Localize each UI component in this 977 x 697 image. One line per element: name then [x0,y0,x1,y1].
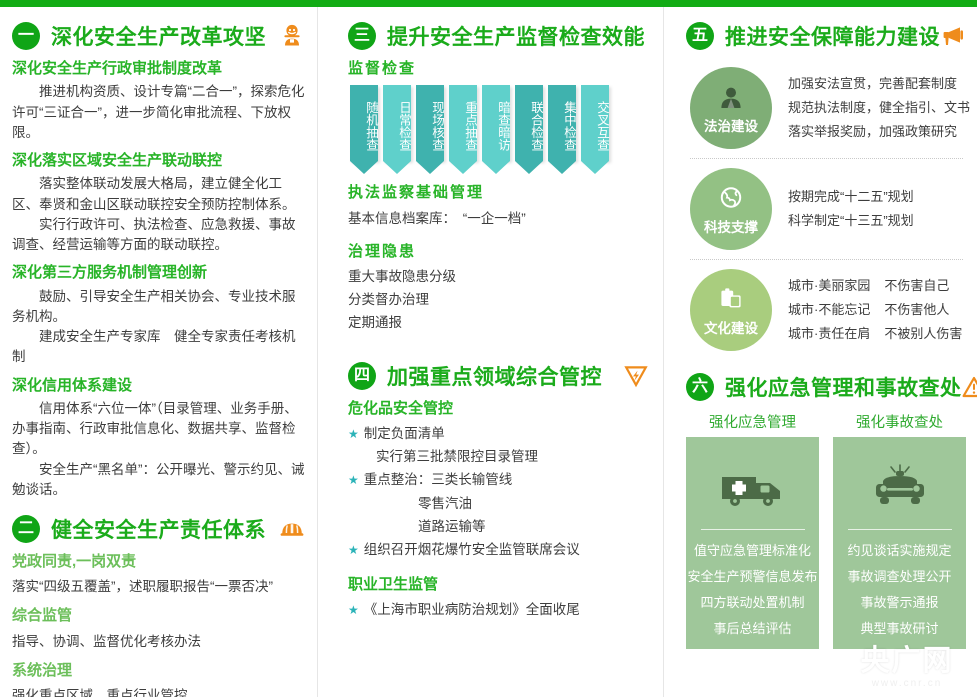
capability-line: 规范执法制度，健全指引、文书 [788,96,970,120]
body-line: 分类督办治理 [348,288,647,311]
capability-circle: 科技支撑 [690,168,772,250]
capability-row-legal: 法治建设 加强安法宣贯，完善配套制度 规范执法制度，健全指引、文书 落实举报奖励… [686,58,967,158]
body-paragraph: 落实整体联动发展大格局，建立健全化工区、奉贤和金山区联动联控安全预防控制体系。 [12,174,305,215]
emergency-card: 约见谈话实施规定 事故调查处理公开 事故警示通报 典型事故研讨 [833,437,966,649]
star-item-label: 制定负面清单 [364,422,445,445]
card-line: 约见谈话实施规定 [847,538,951,564]
star-item: ★ 《上海市职业病防治规划》全面收尾 [348,598,647,621]
section-title: 健全安全生产责任体系 [51,514,266,544]
sub-heading: 深化第三方服务机制管理创新 [12,263,305,283]
hazard-block: 治理隐患 重大事故隐患分级 分类督办治理 定期通报 [348,242,647,335]
star-item: ★ 组织召开烟花爆竹安全监管联席会议 [348,538,647,561]
capability-line: 按期完成“十二五”规划 [788,185,914,209]
clipboard-icon [716,285,746,320]
star-item: ★ 重点整治：三类长输管线 [348,468,647,491]
star-item: ★ 制定负面清单 [348,422,647,445]
section-number-badge: 一 [12,22,40,50]
star-item-label: 重点整治：三类长输管线 [364,468,513,491]
capability-line: 城市·美丽家园 [788,274,870,298]
body-paragraph: 推进机构资质、设计专篇“二合一”，探索危化许可“三证合一”，进一步简化审批流程、… [12,82,305,143]
ribbon-banner: 随机抽查 [350,85,378,161]
capability-circle: 文化建设 [690,269,772,351]
ambulance-icon [718,451,788,525]
section-title: 强化应急管理和事故查处 [725,372,962,402]
ribbon-label: 交叉互查 [595,101,609,151]
section-heading-two: 二 健全安全生产责任体系 [12,514,305,544]
card-line: 典型事故研讨 [860,616,938,642]
sub-heading: 深化安全生产行政审批制度改革 [12,59,305,79]
sub-heading: 系统治理 [12,661,305,681]
sub-heading: 职业卫生监管 [348,575,647,595]
section-number-badge: 三 [348,22,376,50]
star-item-label: 组织召开烟花爆竹安全监管联席会议 [364,538,580,561]
star-bullet-icon: ★ [348,470,359,491]
star-bullet-icon: ★ [348,600,359,621]
sub-heading: 党政同责,一岗双责 [12,552,305,572]
occupational-health-block: 职业卫生监管 ★ 《上海市职业病防治规划》全面收尾 [348,575,647,621]
card-line: 事故警示通报 [860,590,938,616]
section-heading-three: 三 提升安全生产监督检查效能 [348,21,647,51]
sub-heading: 治理隐患 [348,242,647,262]
sub-heading-supervision: 监督检查 [348,59,647,79]
body-line: 落实“四级五覆盖”，述职履职报告“一票否决” [12,575,305,598]
body-paragraph: 鼓励、引导安全生产相关协会、专业技术服务机构。 [12,287,305,328]
section-title: 提升安全生产监督检查效能 [387,21,645,51]
capability-line: 科学制定“十三五”规划 [788,209,914,233]
sub-heading: 综合监管 [12,606,305,626]
body-line: 基本信息档案库： “一企一档” [348,207,647,230]
capability-circle: 法治建设 [690,67,772,149]
ribbon-banner: 集中检查 [548,85,576,161]
body-line: 定期通报 [348,311,647,334]
capability-rows: 法治建设 加强安法宣贯，完善配套制度 规范执法制度，健全指引、文书 落实举报奖励… [686,58,967,360]
ribbon-label: 随机抽查 [364,101,378,151]
section-title: 推进安全保障能力建设 [725,21,940,51]
ribbon-label: 暗查暗访 [496,101,510,151]
ribbon-label: 集中检查 [562,101,576,151]
capability-lines-left: 城市·美丽家园 城市·不能忘记 城市·责任在肩 [788,274,870,346]
section-number-badge: 四 [348,362,376,390]
capability-label: 科技支撑 [704,221,758,235]
enforcement-block: 执法监察基础管理 基本信息档案库： “一企一档” [348,183,647,229]
section-title: 加强重点领域综合管控 [387,361,602,391]
card-rule [701,529,805,530]
body-paragraph: 信用体系“六位一体”（目录管理、业务手册、办事指南、行政审批信息化、数据共享、监… [12,399,305,460]
capability-line: 城市·不能忘记 [788,298,870,322]
capability-lines: 城市·美丽家园 城市·不能忘记 城市·责任在肩 不伤害自己 不伤害他人 不被别人… [788,274,962,346]
capability-line: 不伤害他人 [884,298,962,322]
sub-heading: 危化品安全管控 [348,399,647,419]
card-rule [848,529,952,530]
hazchem-block: 危化品安全管控 ★ 制定负面清单 实行第三批禁限控目录管理 ★ 重点整治：三类长… [348,399,647,562]
top-accent-bar [0,0,977,7]
body-paragraph: 建成安全生产专家库 健全专家责任考核机制 [12,327,305,368]
emergency-card: 值守应急管理标准化 安全生产预警信息发布 四方联动处置机制 事后总结评估 [686,437,819,649]
emergency-card-title: 强化应急管理 [686,411,819,432]
body-line: 道路运输等 [348,515,647,538]
capability-line: 不被别人伤害 [884,322,962,346]
column-three: 五 推进安全保障能力建设 [663,7,977,697]
star-bullet-icon: ★ [348,540,359,561]
capability-line: 不伤害自己 [884,274,962,298]
card-line: 值守应急管理标准化 [694,538,811,564]
worker-helmet-icon [279,23,305,49]
inspection-ribbons: 随机抽查 日常检查 现场核查 重点抽查 暗查暗访 联合检查 集中检查 交叉互查 [350,85,647,161]
infographic-page: 一 深化安全生产改革攻坚 深化安全生产行政审批制度改革 推进 [0,0,977,697]
section-heading-one: 一 深化安全生产改革攻坚 [12,21,305,51]
globe-icon [716,184,746,219]
section-title: 深化安全生产改革攻坚 [51,21,266,51]
capability-lines: 加强安法宣贯，完善配套制度 规范执法制度，健全指引、文书 落实举报奖励，加强政策… [788,72,970,144]
police-car-icon [865,451,935,525]
sub-heading: 深化信用体系建设 [12,376,305,396]
body-paragraph: 实行行政许可、执法检查、应急救援、事故调查、经营运输等方面的联动联控。 [12,215,305,256]
body-line: 强化重点区域，重点行业管控 [12,684,305,697]
electrical-hazard-icon [624,364,648,388]
ribbon-label: 日常检查 [397,101,411,151]
capability-label: 法治建设 [704,120,758,134]
capability-lines: 按期完成“十二五”规划 科学制定“十三五”规划 [788,185,914,233]
ribbon-banner: 现场核查 [416,85,444,161]
ribbon-banner: 交叉互查 [581,85,609,161]
section-heading-six: 六 强化应急管理和事故查处 [686,372,967,402]
sub-heading: 执法监察基础管理 [348,183,647,203]
capability-lines-right: 不伤害自己 不伤害他人 不被别人伤害 [884,274,962,346]
ribbon-banner: 重点抽查 [449,85,477,161]
ribbon-banner: 联合检查 [515,85,543,161]
ribbon-banner: 暗查暗访 [482,85,510,161]
card-line: 四方联动处置机制 [700,590,804,616]
card-line: 事故调查处理公开 [847,564,951,590]
body-line: 重大事故隐患分级 [348,265,647,288]
emergency-card-titles: 强化应急管理 强化事故查处 [686,411,967,432]
section-number-badge: 六 [686,373,714,401]
ribbon-label: 联合检查 [529,101,543,151]
hard-hat-icon [279,516,305,542]
capability-line: 加强安法宣贯，完善配套制度 [788,72,970,96]
body-line: 实行第三批禁限控目录管理 [348,445,647,468]
warning-triangle-icon [962,376,977,398]
section-one-body: 深化安全生产行政审批制度改革 推进机构资质、设计专篇“二合一”，探索危化许可“三… [12,59,305,500]
emergency-card-title: 强化事故查处 [833,411,966,432]
capability-line: 城市·责任在肩 [788,322,870,346]
ribbon-label: 重点抽查 [463,101,477,151]
star-item-label: 《上海市职业病防治规划》全面收尾 [364,598,580,621]
section-heading-five: 五 推进安全保障能力建设 [686,21,967,51]
megaphone-icon [940,24,967,48]
ribbon-banner: 日常检查 [383,85,411,161]
card-line: 安全生产预警信息发布 [687,564,817,590]
column-two: 三 提升安全生产监督检查效能 监督检查 随机抽查 日常检查 现场核查 重点抽查 … [317,7,663,697]
ribbon-label: 现场核查 [430,101,444,151]
section-heading-four: 四 加强重点领域综合管控 [348,361,647,391]
capability-label: 文化建设 [704,322,758,336]
person-suit-icon [716,83,746,118]
section-number-badge: 五 [686,22,714,50]
card-line: 事后总结评估 [713,616,791,642]
body-line: 指导、协调、监督优化考核办法 [12,630,305,653]
columns-container: 一 深化安全生产改革攻坚 深化安全生产行政审批制度改革 推进 [0,7,977,697]
section-number-badge: 二 [12,515,40,543]
section-two-body: 党政同责,一岗双责 落实“四级五覆盖”，述职履职报告“一票否决” 综合监管 指导… [12,552,305,697]
body-line: 零售汽油 [348,492,647,515]
star-bullet-icon: ★ [348,424,359,445]
capability-line: 落实举报奖励，加强政策研究 [788,120,970,144]
column-one: 一 深化安全生产改革攻坚 深化安全生产行政审批制度改革 推进 [0,7,317,697]
capability-row-culture: 文化建设 城市·美丽家园 城市·不能忘记 城市·责任在肩 不伤害自己 不伤害他人… [686,260,967,360]
sub-heading: 深化落实区域安全生产联动联控 [12,151,305,171]
emergency-cards: 值守应急管理标准化 安全生产预警信息发布 四方联动处置机制 事后总结评估 [686,437,967,649]
body-paragraph: 安全生产“黑名单”：公开曝光、警示约见、诫勉谈话。 [12,460,305,501]
capability-row-tech: 科技支撑 按期完成“十二五”规划 科学制定“十三五”规划 [686,159,967,259]
